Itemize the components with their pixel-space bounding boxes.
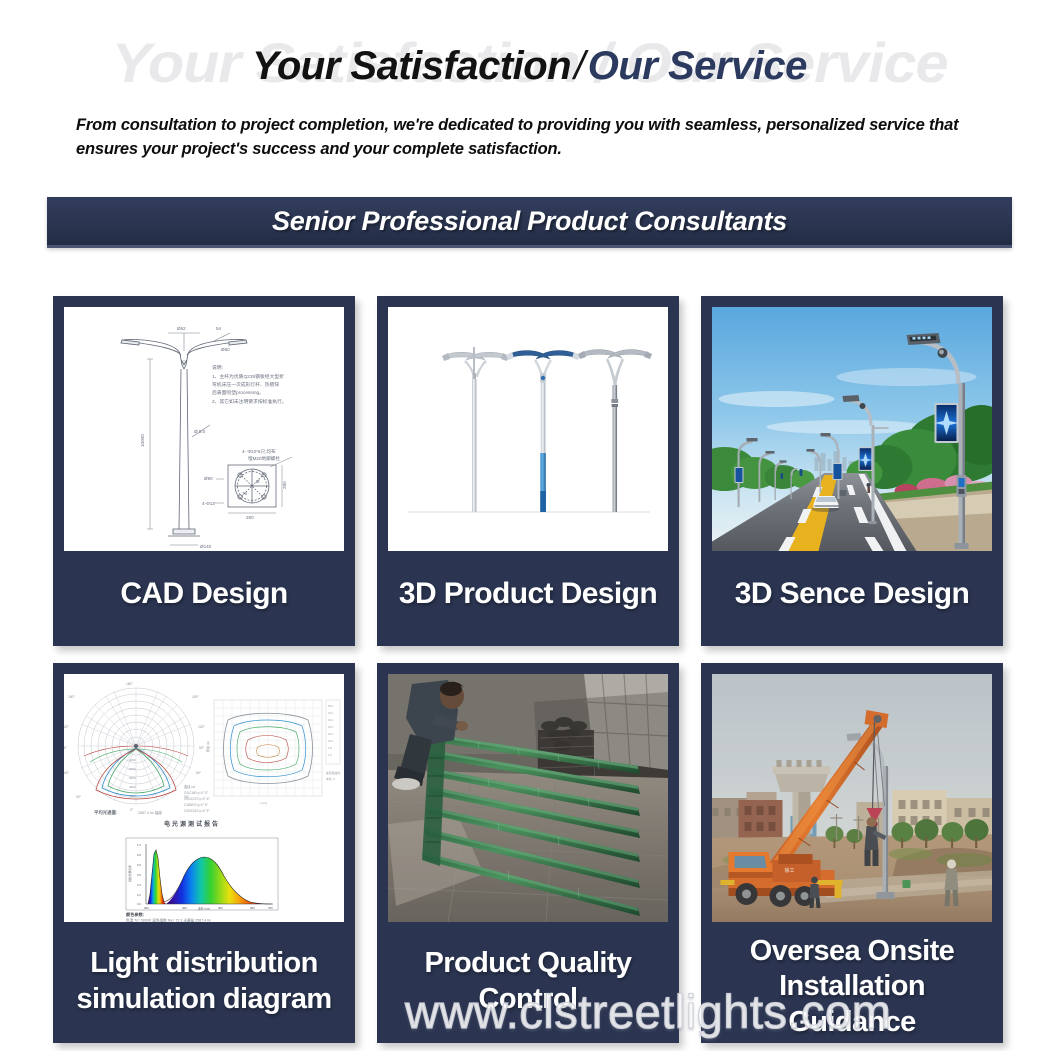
svg-text:76: 76 bbox=[242, 491, 248, 496]
svg-text:埋M20地脚螺栓: 埋M20地脚螺栓 bbox=[248, 455, 280, 462]
svg-text:480: 480 bbox=[182, 906, 187, 910]
svg-text:Ø: Ø bbox=[256, 479, 260, 484]
svg-text:680: 680 bbox=[250, 906, 255, 910]
3d-poles-image bbox=[388, 307, 668, 551]
svg-text:0.5: 0.5 bbox=[137, 873, 141, 877]
service-card-label: Product Quality Control bbox=[388, 922, 668, 1043]
svg-text:5 lx: 5 lx bbox=[328, 746, 333, 750]
svg-text:4- Φ22*6只,均布: 4- Φ22*6只,均布 bbox=[242, 448, 276, 455]
svg-text:C90/C270 γ=0° 5°: C90/C270 γ=0° 5° bbox=[184, 797, 210, 801]
photometric-report-image: 180°150° 120°90° 60°30° 0°30° 60°90° 120… bbox=[64, 674, 344, 922]
service-card-grid: Ø62 54 Ø60 10000 Ø 5.0 Ø140 说明: 1、主杆为优质Q… bbox=[53, 296, 1006, 1043]
service-card-product-quality[interactable]: Product Quality Control bbox=[377, 663, 679, 1043]
svg-text:1.0: 1.0 bbox=[137, 843, 141, 847]
3d-poles-icon bbox=[388, 307, 668, 551]
svg-text:色温 Tc= 5000K 显色指数 Ra= 72.3: 色温 Tc= 5000K 显色指数 Ra= 72.3 光通量 2567.4 lm bbox=[126, 918, 211, 922]
page-header: Your Satisfaction / Our Service Your Sat… bbox=[0, 0, 1059, 180]
svg-text:0.6: 0.6 bbox=[137, 863, 141, 867]
svg-text:60°: 60° bbox=[64, 771, 70, 775]
svg-text:120°: 120° bbox=[64, 725, 70, 729]
svg-text:280: 280 bbox=[246, 515, 254, 520]
svg-text:Ø60: Ø60 bbox=[221, 347, 230, 352]
page-title-separator: / bbox=[571, 44, 588, 88]
installation-photo-image: 徐工 bbox=[712, 674, 992, 922]
svg-text:40 lx: 40 lx bbox=[328, 711, 334, 715]
svg-text:Ø90: Ø90 bbox=[204, 476, 213, 481]
svg-text:电光源测试报告: 电光源测试报告 bbox=[164, 820, 220, 828]
svg-text:2567.4 lm 幅度: 2567.4 lm 幅度 bbox=[138, 810, 162, 815]
svg-text:4-Φ12: 4-Φ12 bbox=[202, 501, 215, 506]
svg-text:4000: 4000 bbox=[129, 785, 136, 789]
svg-text:20 lx: 20 lx bbox=[328, 725, 334, 729]
svg-text:120°: 120° bbox=[198, 725, 206, 729]
svg-text:说明:: 说明: bbox=[212, 364, 223, 371]
photometric-report-icon: 180°150° 120°90° 60°30° 0°30° 60°90° 120… bbox=[64, 674, 344, 922]
svg-text:C0/C180 γ=0° 5°: C0/C180 γ=0° 5° bbox=[184, 791, 209, 795]
svg-text:280: 280 bbox=[282, 481, 287, 489]
svg-text:2、其它如未注明要求按标准执行。: 2、其它如未注明要求按标准执行。 bbox=[212, 398, 287, 405]
section-banner: Senior Professional Product Consultants bbox=[47, 197, 1012, 248]
svg-text:580: 580 bbox=[218, 906, 223, 910]
svg-text:波长 (nm): 波长 (nm) bbox=[198, 907, 210, 911]
svg-text:10000: 10000 bbox=[140, 434, 145, 447]
svg-text:50 lx: 50 lx bbox=[328, 704, 334, 708]
service-card-3d-product-design[interactable]: 3D Product Design bbox=[377, 296, 679, 646]
service-card-label: Oversea Onsite Installation Guidance bbox=[712, 922, 992, 1043]
svg-text:后表面喷塑processing。: 后表面喷塑processing。 bbox=[212, 389, 264, 396]
service-card-oversea-installation[interactable]: 徐工 bbox=[701, 663, 1003, 1043]
svg-text:等照度曲线: 等照度曲线 bbox=[326, 771, 340, 775]
page-title-primary: Your Satisfaction bbox=[252, 44, 571, 88]
svg-text:780: 780 bbox=[268, 906, 273, 910]
svg-text:10 lx: 10 lx bbox=[328, 739, 334, 743]
factory-photo-image bbox=[388, 674, 668, 922]
page-title: Your Satisfaction/Our Service bbox=[0, 44, 1059, 89]
svg-text:C180/C0 γ=0° 5°: C180/C0 γ=0° 5° bbox=[184, 803, 209, 807]
installation-photo-icon: 徐工 bbox=[712, 674, 992, 922]
street-scene-icon bbox=[712, 307, 992, 551]
service-card-label: CAD Design bbox=[64, 551, 344, 646]
svg-text:3000: 3000 bbox=[129, 776, 136, 780]
service-card-light-distribution[interactable]: 180°150° 120°90° 60°30° 0°30° 60°90° 120… bbox=[53, 663, 355, 1043]
svg-text:C30/C210 γ=0° 5°: C30/C210 γ=0° 5° bbox=[184, 809, 210, 813]
svg-text:5000: 5000 bbox=[129, 794, 136, 798]
page-root: Your Satisfaction / Our Service Your Sat… bbox=[0, 0, 1059, 1051]
svg-text:90°: 90° bbox=[199, 746, 205, 750]
svg-text:相对光谱功率: 相对光谱功率 bbox=[128, 865, 132, 882]
factory-photo-icon bbox=[388, 674, 668, 922]
svg-text:180°: 180° bbox=[126, 682, 134, 686]
svg-text:380: 380 bbox=[144, 906, 149, 910]
svg-text:150°: 150° bbox=[68, 695, 76, 699]
section-banner-label: Senior Professional Product Consultants bbox=[272, 206, 787, 237]
svg-text:Ø 5.0: Ø 5.0 bbox=[194, 429, 206, 434]
svg-text:2000: 2000 bbox=[129, 767, 136, 771]
svg-text:0.3: 0.3 bbox=[137, 883, 141, 887]
svg-text:60°: 60° bbox=[196, 771, 202, 775]
service-card-3d-sence-design[interactable]: 3D Sence Design bbox=[701, 296, 1003, 646]
svg-text:弯机床压一次成形灯杆、热镀锌: 弯机床压一次成形灯杆、热镀锌 bbox=[212, 381, 279, 388]
svg-text:x (m): x (m) bbox=[260, 801, 267, 805]
svg-text:30 lx: 30 lx bbox=[328, 718, 334, 722]
cad-drawing-image: Ø62 54 Ø60 10000 Ø 5.0 Ø140 说明: 1、主杆为优质Q… bbox=[64, 307, 344, 551]
svg-text:单位: lx: 单位: lx bbox=[326, 777, 336, 781]
service-card-label: Light distribution simulation diagram bbox=[64, 922, 344, 1043]
svg-text:颜色参数:: 颜色参数: bbox=[126, 911, 144, 918]
svg-text:150°: 150° bbox=[192, 695, 200, 699]
svg-text:照度 (lx): 照度 (lx) bbox=[205, 741, 210, 752]
service-card-label: 3D Sence Design bbox=[712, 551, 992, 646]
street-scene-image bbox=[712, 307, 992, 551]
svg-text:2 lx: 2 lx bbox=[328, 753, 333, 757]
svg-text:30°: 30° bbox=[76, 795, 82, 799]
service-card-label: 3D Product Design bbox=[388, 551, 668, 646]
svg-text:0.2: 0.2 bbox=[137, 893, 141, 897]
svg-text:0.8: 0.8 bbox=[137, 853, 141, 857]
cad-drawing-icon: Ø62 54 Ø60 10000 Ø 5.0 Ø140 说明: 1、主杆为优质Q… bbox=[64, 307, 344, 551]
svg-text:54: 54 bbox=[216, 326, 222, 331]
svg-text:平均光通量:: 平均光通量: bbox=[94, 809, 118, 816]
page-subtitle: From consultation to project completion,… bbox=[76, 114, 999, 162]
svg-text:1000: 1000 bbox=[129, 758, 136, 762]
svg-text:1、主杆为优质Q235钢板经大型折: 1、主杆为优质Q235钢板经大型折 bbox=[212, 373, 284, 380]
svg-text:Ø62: Ø62 bbox=[177, 326, 186, 331]
svg-text:15 lx: 15 lx bbox=[328, 732, 334, 736]
svg-text:曲线 cd: 曲线 cd bbox=[184, 784, 195, 789]
page-title-accent: Our Service bbox=[588, 44, 807, 88]
service-card-cad-design[interactable]: Ø62 54 Ø60 10000 Ø 5.0 Ø140 说明: 1、主杆为优质Q… bbox=[53, 296, 355, 646]
svg-text:0.0: 0.0 bbox=[137, 902, 141, 906]
svg-text:Ø140: Ø140 bbox=[200, 544, 212, 549]
